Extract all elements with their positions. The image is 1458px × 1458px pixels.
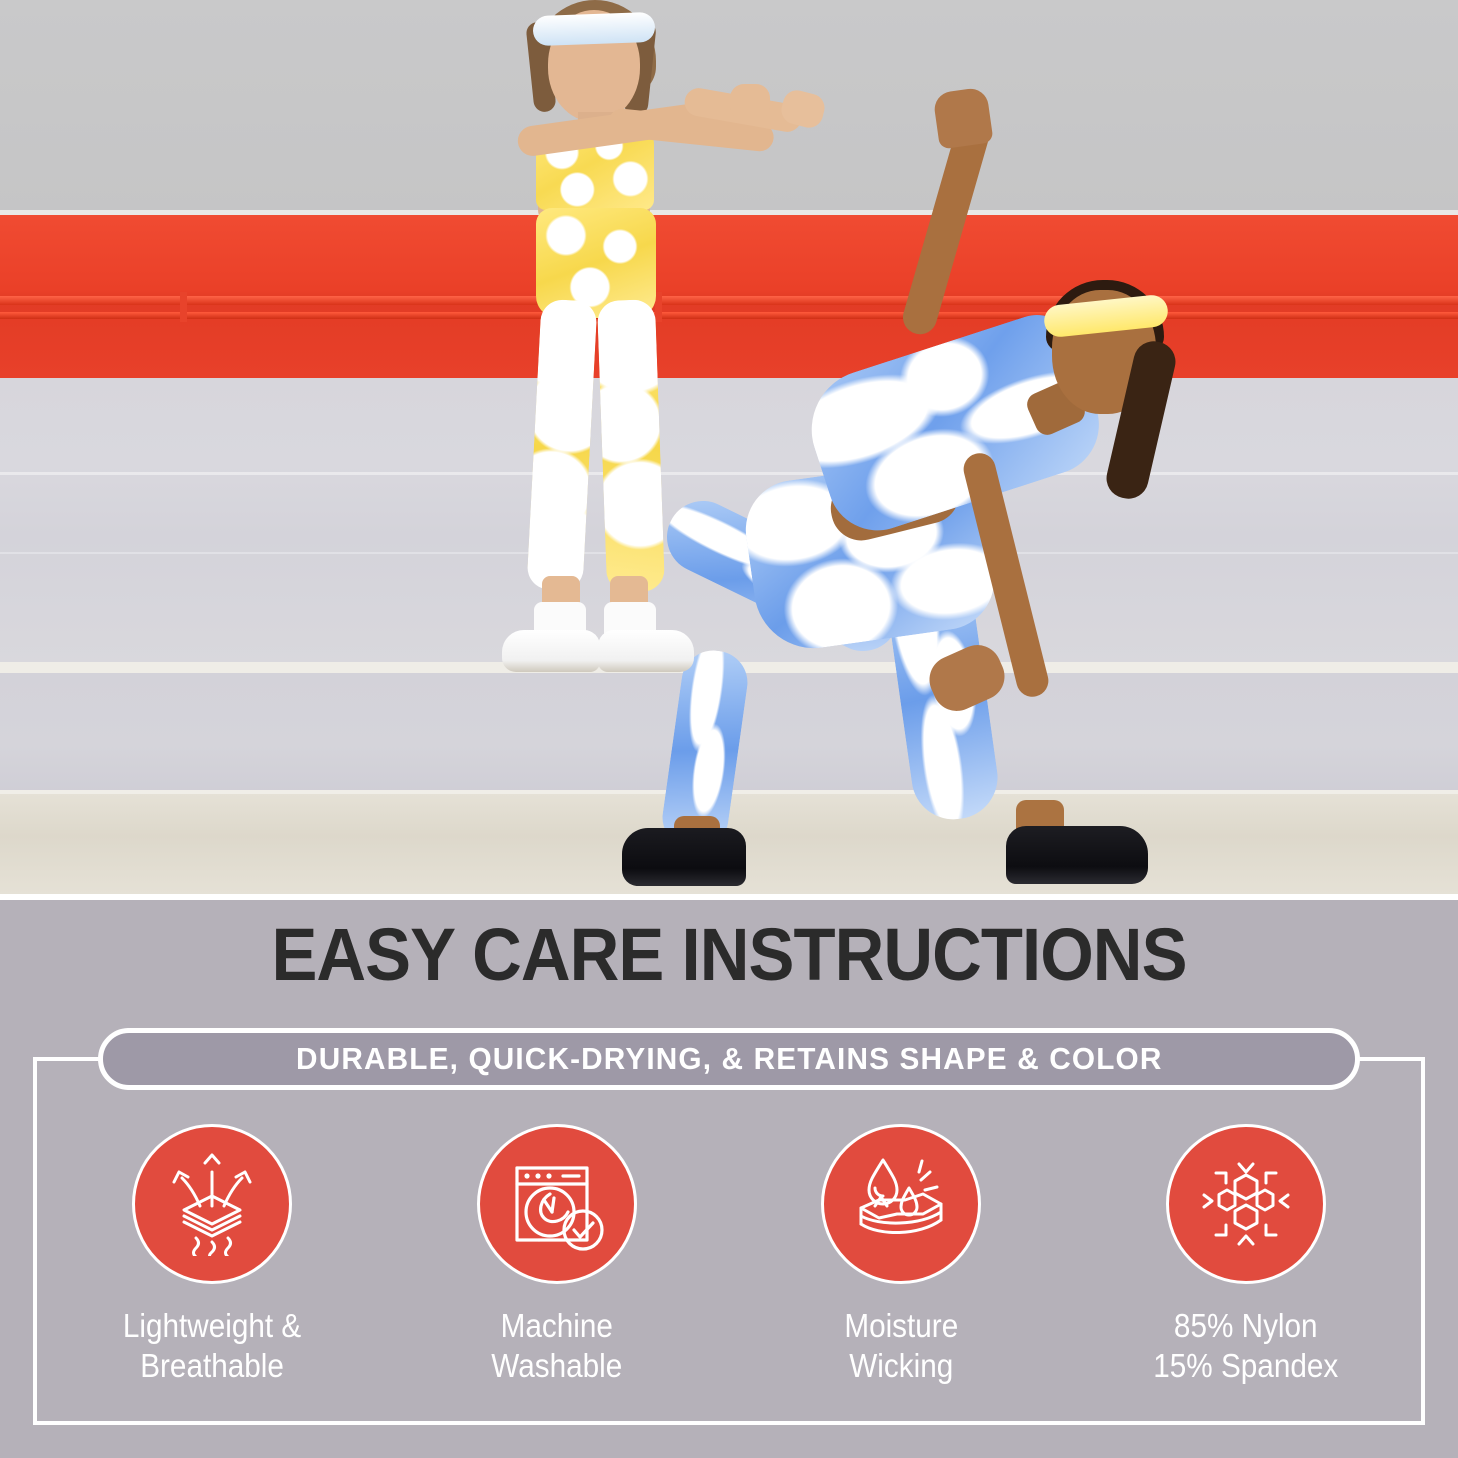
water-droplet-fabric-icon <box>849 1152 953 1256</box>
feature-icon-circle <box>1166 1124 1326 1284</box>
model-blue-shoe-front <box>1006 826 1148 884</box>
page-title: EASY CARE INSTRUCTIONS <box>51 918 1407 992</box>
breathable-fabric-icon <box>160 1152 264 1256</box>
model-blue-hand-raised <box>932 87 993 150</box>
model-yellow-shoe-left <box>502 630 600 672</box>
feature-icon-circle <box>821 1124 981 1284</box>
feature-lightweight-breathable: Lightweight & Breathable <box>62 1124 362 1387</box>
feature-moisture-wicking: Moisture Wicking <box>751 1124 1051 1387</box>
feature-label: Machine Washable <box>491 1306 622 1387</box>
product-feature-graphic: EASY CARE INSTRUCTIONS DURABLE, QUICK-DR… <box>0 0 1458 1458</box>
feature-machine-washable: Machine Washable <box>407 1124 707 1387</box>
feature-list: Lightweight & Breathable <box>40 1124 1418 1387</box>
honeycomb-mesh-icon <box>1194 1152 1298 1256</box>
subtitle-banner: DURABLE, QUICK-DRYING, & RETAINS SHAPE &… <box>98 1028 1360 1090</box>
feature-label: 85% Nylon 15% Spandex <box>1153 1306 1338 1387</box>
care-instructions-panel: EASY CARE INSTRUCTIONS DURABLE, QUICK-DR… <box>0 902 1458 1458</box>
washing-machine-check-icon <box>505 1152 609 1256</box>
model-yellow-shoe-right <box>598 630 694 672</box>
subtitle-text: DURABLE, QUICK-DRYING, & RETAINS SHAPE &… <box>296 1041 1162 1077</box>
feature-icon-circle <box>132 1124 292 1284</box>
feature-fabric-composition: 85% Nylon 15% Spandex <box>1096 1124 1396 1387</box>
model-blue-shoe-back <box>622 828 746 886</box>
feature-icon-circle <box>477 1124 637 1284</box>
hero-photo <box>0 0 1458 900</box>
pipe-clamp <box>180 292 187 322</box>
model-yellow-feet <box>430 0 830 690</box>
photo-divider <box>0 894 1458 900</box>
feature-label: Moisture Wicking <box>844 1306 958 1387</box>
feature-label: Lightweight & Breathable <box>123 1306 301 1387</box>
